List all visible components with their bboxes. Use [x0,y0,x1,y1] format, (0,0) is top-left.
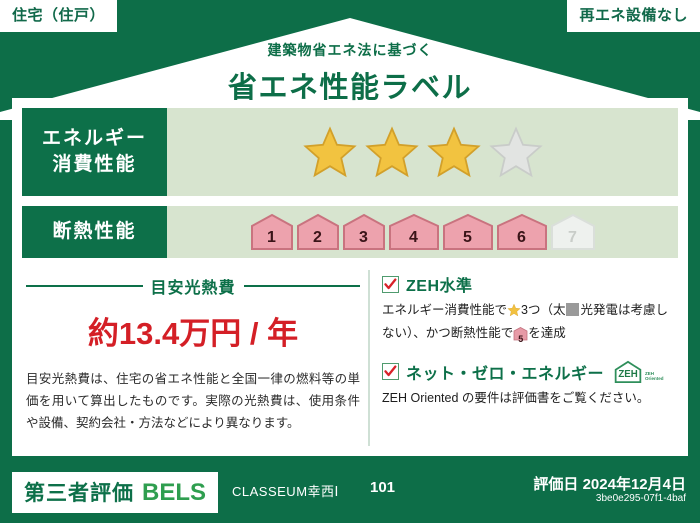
energy-label-line2: 消費性能 [52,152,136,178]
energy-star-rating [167,108,678,196]
zeh-logo-sublabel: ZEH Oriented [645,372,664,384]
net-zero-title-row: ネット・ゼロ・エネルギー ZEH ZEH Oriented [382,360,676,384]
bels-badge-en: BELS [142,479,206,507]
insulation-grade-number: 1 [250,229,294,247]
header-subtitle: 建築物省エネ法に基づく [0,40,700,60]
energy-performance-label: エネルギー 消費性能 [22,108,167,196]
zeh-standard-title: ZEH水準 [406,272,473,296]
header-title: 省エネ性能ラベル [0,64,700,106]
rule-left [26,285,143,287]
insulation-grade-house-3: 3 [342,213,386,251]
net-zero-description: ZEH Oriented の要件は評価書をご覧ください。 [382,388,676,408]
insulation-grade-number: 2 [296,229,340,247]
insulation-grade-number: 6 [496,229,548,247]
insulation-grade-number: 4 [388,229,440,247]
insulation-grade-house-1: 1 [250,213,294,251]
utility-cost-column: 目安光熱費 約13.4万円 / 年 目安光熱費は、住宅の省エネ性能と全国一律の燃… [18,270,370,446]
svg-text:ZEH: ZEH [618,368,637,379]
evaluation-id: 3be0e295-07f1-4baf [596,493,686,504]
zeh-standard-description: エネルギー消費性能で3つ（太光発電は考慮しない）、かつ断熱性能で5を達成 [382,300,676,348]
evaluation-date: 評価日 2024年12月4日 [533,473,686,494]
checkbox-zeh-standard[interactable] [382,276,399,293]
zeh-house-logo-icon: ZEH [613,360,643,384]
star-icon-filled [364,125,420,179]
energy-label-line1: エネルギー [42,126,147,152]
building-name: CLASSEUM幸西Ⅰ [232,481,339,500]
insulation-grade-number: 5 [442,229,494,247]
insulation-grade-house-6: 6 [496,213,548,251]
insulation-grade-number: 7 [550,229,596,247]
rule-right [244,285,361,287]
houses-group: 1234567 [250,213,596,251]
star-icon-empty [488,125,544,179]
bels-badge-jp: 第三者評価 [24,477,134,507]
insulation-grade-number: 3 [342,229,386,247]
insulation-grade-house-4: 4 [388,213,440,251]
insulation-performance-row: 断熱性能 1234567 [22,206,678,258]
insulation-performance-label: 断熱性能 [22,206,167,258]
checkbox-net-zero-energy[interactable] [382,363,399,380]
net-zero-energy-block: ネット・ゼロ・エネルギー ZEH ZEH Oriented [382,360,676,408]
utility-cost-note: 目安光熱費は、住宅の省エネ性能と全国一律の燃料等の単価を用いて算出したものです。… [26,369,360,435]
zeh-standard-title-row: ZEH水準 [382,272,676,296]
zeh-logo-sub-line2: Oriented [645,376,664,381]
insulation-grade-scale: 1234567 [167,206,678,258]
stars-group [302,125,544,179]
insulation-grade-house-2: 2 [296,213,340,251]
footer: 第三者評価 BELS CLASSEUM幸西Ⅰ 101 評価日 2024年12月4… [0,463,700,523]
zeh-desc-pre: エネルギー消費性能で [382,303,507,317]
tag-building-type: 住宅（住戸） [0,0,117,32]
star-icon-filled [302,125,358,179]
unit-number: 101 [370,479,395,496]
utility-cost-value: 約13.4万円 / 年 [26,308,360,353]
redaction-box [566,303,579,316]
main-panel: エネルギー 消費性能 断熱性能 1234567 目安光熱費 約13.4万 [12,98,688,456]
inline-house-grade-number: 5 [513,332,528,347]
utility-cost-heading: 目安光熱費 [26,274,360,298]
zeh-column: ZEH水準 エネルギー消費性能で3つ（太光発電は考慮しない）、かつ断熱性能で5を… [370,270,682,446]
lower-section: 目安光熱費 約13.4万円 / 年 目安光熱費は、住宅の省エネ性能と全国一律の燃… [18,270,682,446]
utility-cost-heading-text: 目安光熱費 [151,274,236,298]
inline-house-grade-icon: 5 [513,327,528,347]
energy-performance-row: エネルギー 消費性能 [22,108,678,196]
zeh-logo: ZEH ZEH Oriented [613,360,664,384]
bels-badge: 第三者評価 BELS [12,472,218,513]
insulation-grade-house-7: 7 [550,213,596,251]
bels-energy-label: 住宅（住戸） 再エネ設備なし 建築物省エネ法に基づく 省エネ性能ラベル エネルギ… [0,0,700,523]
zeh-desc-mid: 3つ（太 [521,303,565,317]
net-zero-title: ネット・ゼロ・エネルギー [406,360,604,384]
inline-star-icon [507,303,521,323]
star-icon-filled [426,125,482,179]
tag-renewable-energy: 再エネ設備なし [567,0,700,32]
zeh-desc-end: を達成 [528,326,566,340]
zeh-standard-block: ZEH水準 エネルギー消費性能で3つ（太光発電は考慮しない）、かつ断熱性能で5を… [382,272,676,348]
insulation-grade-house-5: 5 [442,213,494,251]
